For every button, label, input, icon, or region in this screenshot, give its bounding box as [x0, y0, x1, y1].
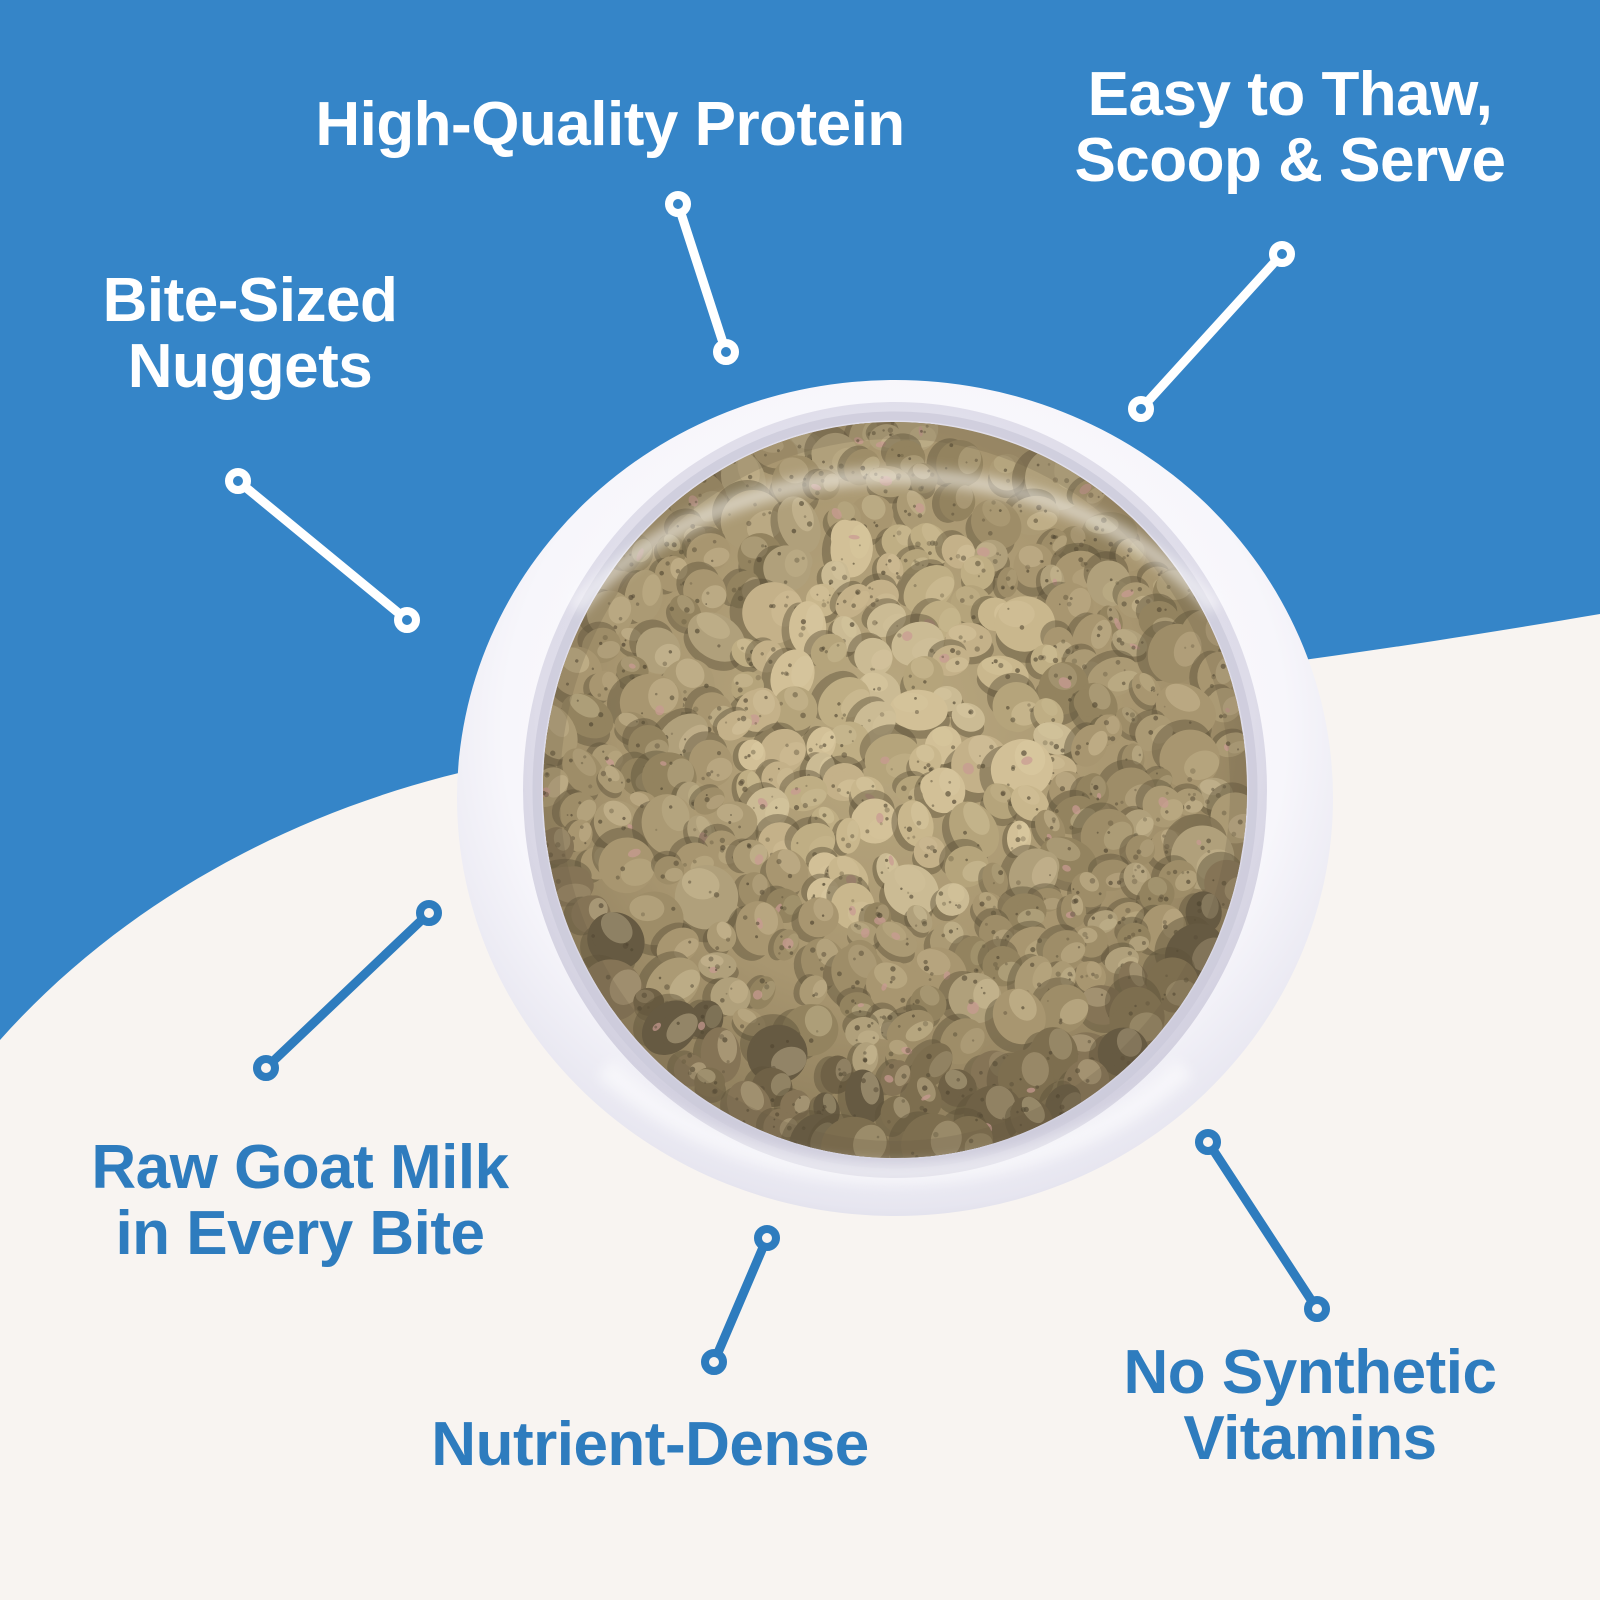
infographic-canvas: High-Quality Protein Easy to Thaw, Scoop… [0, 0, 1600, 1600]
label-line-2: Vitamins [1040, 1406, 1580, 1472]
callout-label-easy-to-thaw-scoop-serve: Easy to Thaw, Scoop & Serve [1030, 62, 1550, 193]
label-line: High-Quality Protein [315, 90, 904, 159]
dog-food-bowl [455, 378, 1335, 1218]
label-line-1: No Synthetic [1040, 1340, 1580, 1406]
label-line-1: Easy to Thaw, [1030, 62, 1550, 128]
label-line: Nutrient-Dense [431, 1410, 868, 1479]
label-line-2: Nuggets [60, 334, 440, 400]
callout-label-raw-goat-milk-in-every-bite: Raw Goat Milk in Every Bite [40, 1135, 560, 1266]
label-line-1: Raw Goat Milk [40, 1135, 560, 1201]
callout-label-bite-sized-nuggets: Bite-Sized Nuggets [60, 268, 440, 399]
callout-label-high-quality-protein: High-Quality Protein [290, 92, 930, 158]
bowl-graphic [455, 378, 1335, 1218]
label-line-1: Bite-Sized [60, 268, 440, 334]
label-line-2: Scoop & Serve [1030, 128, 1550, 194]
label-line-2: in Every Bite [40, 1201, 560, 1267]
callout-label-no-synthetic-vitamins: No Synthetic Vitamins [1040, 1340, 1580, 1471]
callout-label-nutrient-dense: Nutrient-Dense [330, 1412, 970, 1478]
